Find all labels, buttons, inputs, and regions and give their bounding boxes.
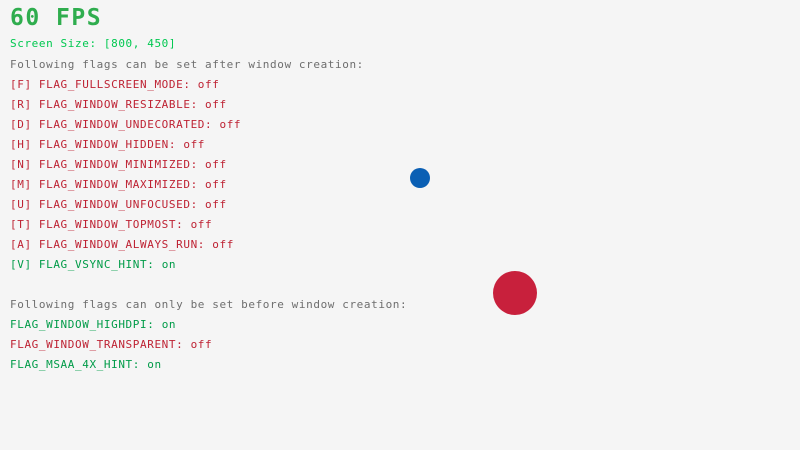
section-header-after-creation: Following flags can be set after window … <box>10 58 364 71</box>
flag-state: off <box>205 98 227 111</box>
flag-state: off <box>205 158 227 171</box>
flag-row-flag-window-always-run[interactable]: [A] FLAG_WINDOW_ALWAYS_RUN: off <box>10 238 234 251</box>
flag-name: FLAG_WINDOW_ALWAYS_RUN <box>39 238 198 251</box>
flag-state: on <box>147 358 161 371</box>
flag-name: FLAG_WINDOW_HIGHDPI <box>10 318 147 331</box>
flag-separator: : <box>176 218 190 231</box>
flag-separator: : <box>147 318 161 331</box>
flag-state: off <box>219 118 241 131</box>
flag-name: FLAG_WINDOW_RESIZABLE <box>39 98 191 111</box>
flag-separator: : <box>169 138 183 151</box>
flag-separator: : <box>191 158 205 171</box>
flag-key: [U] <box>10 198 39 211</box>
flag-separator: : <box>198 238 212 251</box>
flag-separator: : <box>176 338 190 351</box>
flag-separator: : <box>205 118 219 131</box>
flag-name: FLAG_WINDOW_TRANSPARENT <box>10 338 176 351</box>
flag-key: [M] <box>10 178 39 191</box>
section-header-before-creation: Following flags can only be set before w… <box>10 298 407 311</box>
flag-state: off <box>191 218 213 231</box>
app-canvas[interactable]: 60 FPS Screen Size: [800, 450] Following… <box>0 0 800 450</box>
flag-state: off <box>205 198 227 211</box>
flag-key: [R] <box>10 98 39 111</box>
blue-ball <box>410 168 430 188</box>
flag-separator: : <box>191 198 205 211</box>
flag-row-flag-window-highdpi[interactable]: FLAG_WINDOW_HIGHDPI: on <box>10 318 176 331</box>
flag-name: FLAG_WINDOW_MAXIMIZED <box>39 178 191 191</box>
flag-row-flag-window-undecorated[interactable]: [D] FLAG_WINDOW_UNDECORATED: off <box>10 118 241 131</box>
flag-name: FLAG_MSAA_4X_HINT <box>10 358 133 371</box>
flag-name: FLAG_WINDOW_TOPMOST <box>39 218 176 231</box>
flag-key: [V] <box>10 258 39 271</box>
flag-state: on <box>162 318 176 331</box>
flag-state: off <box>183 138 205 151</box>
flag-name: FLAG_FULLSCREEN_MODE <box>39 78 183 91</box>
flag-row-flag-fullscreen-mode[interactable]: [F] FLAG_FULLSCREEN_MODE: off <box>10 78 219 91</box>
flag-row-flag-window-hidden[interactable]: [H] FLAG_WINDOW_HIDDEN: off <box>10 138 205 151</box>
flag-state: off <box>205 178 227 191</box>
flag-separator: : <box>191 98 205 111</box>
flag-key: [D] <box>10 118 39 131</box>
flag-key: [A] <box>10 238 39 251</box>
flag-state: off <box>198 78 220 91</box>
flag-name: FLAG_VSYNC_HINT <box>39 258 147 271</box>
flag-name: FLAG_WINDOW_HIDDEN <box>39 138 169 151</box>
flag-row-flag-window-resizable[interactable]: [R] FLAG_WINDOW_RESIZABLE: off <box>10 98 227 111</box>
flag-separator: : <box>147 258 161 271</box>
flag-row-flag-window-minimized[interactable]: [N] FLAG_WINDOW_MINIMIZED: off <box>10 158 227 171</box>
flag-row-flag-msaa-4x-hint[interactable]: FLAG_MSAA_4X_HINT: on <box>10 358 162 371</box>
flag-key: [T] <box>10 218 39 231</box>
flag-row-flag-vsync-hint[interactable]: [V] FLAG_VSYNC_HINT: on <box>10 258 176 271</box>
flag-row-flag-window-transparent[interactable]: FLAG_WINDOW_TRANSPARENT: off <box>10 338 212 351</box>
flag-key: [F] <box>10 78 39 91</box>
flag-row-flag-window-maximized[interactable]: [M] FLAG_WINDOW_MAXIMIZED: off <box>10 178 227 191</box>
flag-state: off <box>191 338 213 351</box>
flag-state: off <box>212 238 234 251</box>
flag-row-flag-window-topmost[interactable]: [T] FLAG_WINDOW_TOPMOST: off <box>10 218 212 231</box>
fps-counter: 60 FPS <box>10 6 102 31</box>
flag-row-flag-window-unfocused[interactable]: [U] FLAG_WINDOW_UNFOCUSED: off <box>10 198 227 211</box>
flag-separator: : <box>183 78 197 91</box>
flag-name: FLAG_WINDOW_UNDECORATED <box>39 118 205 131</box>
red-ball <box>493 271 537 315</box>
flag-separator: : <box>191 178 205 191</box>
screen-size-label: Screen Size: [800, 450] <box>10 37 176 50</box>
flag-key: [H] <box>10 138 39 151</box>
flag-key: [N] <box>10 158 39 171</box>
flag-separator: : <box>133 358 147 371</box>
flag-name: FLAG_WINDOW_UNFOCUSED <box>39 198 191 211</box>
flag-state: on <box>162 258 176 271</box>
flag-name: FLAG_WINDOW_MINIMIZED <box>39 158 191 171</box>
